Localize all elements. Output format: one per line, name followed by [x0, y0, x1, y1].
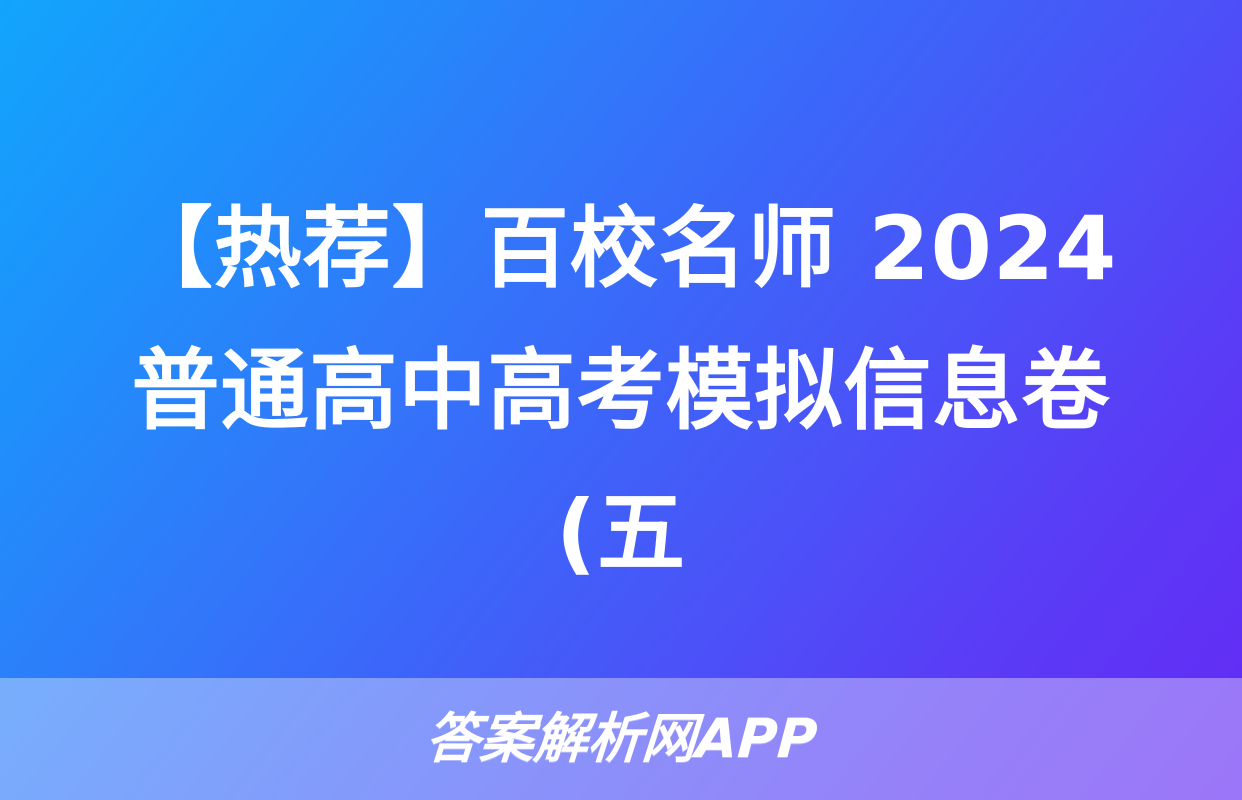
title-block: 【热荐】百校名师 2024 普通高中高考模拟信息卷 (五 [0, 178, 1242, 604]
title-line-1: 【热荐】百校名师 2024 [125, 178, 1118, 320]
brand-name-label: 答案解析网APP [423, 709, 818, 769]
footer-brand-band: 答案解析网APP [0, 678, 1242, 800]
title-line-2: 普通高中高考模拟信息卷 [131, 320, 1110, 462]
title-line-3: (五 [556, 462, 686, 604]
promo-card: 【热荐】百校名师 2024 普通高中高考模拟信息卷 (五 答案解析网APP [0, 0, 1242, 800]
